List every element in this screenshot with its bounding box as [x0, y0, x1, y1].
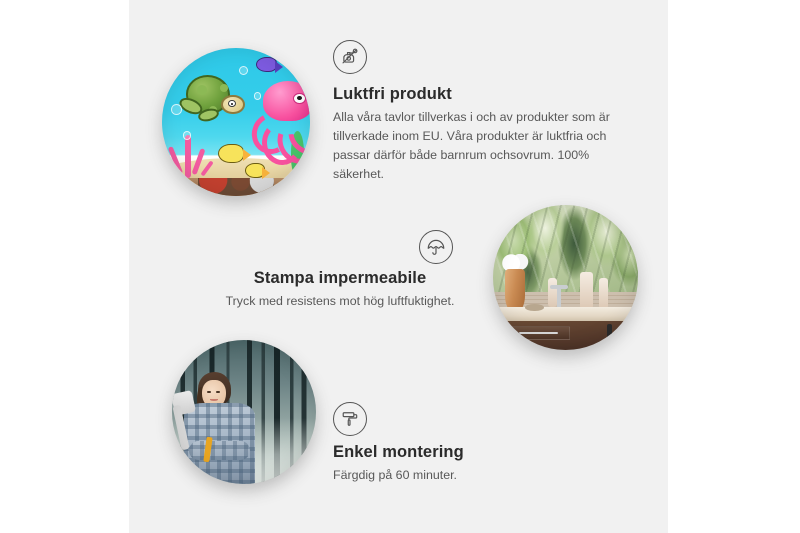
- feature-description: Alla våra tavlor tillverkas i och av pro…: [333, 108, 633, 185]
- feature-text-waterproof-print: Stampa impermeabile Tryck med resistens …: [206, 268, 474, 311]
- no-fragrance-icon: [333, 40, 367, 74]
- feature-title: Enkel montering: [333, 442, 623, 463]
- feature-title: Luktfri produkt: [333, 84, 633, 105]
- product-feature-infographic: Luktfri produkt Alla våra tavlor tillver…: [0, 0, 800, 533]
- feature-text-easy-installation: Enkel montering Färgdig på 60 minuter.: [333, 442, 623, 485]
- photo-woman-paint-roller-forest: [172, 340, 316, 484]
- feature-title: Stampa impermeabile: [206, 268, 474, 289]
- photo-vignette: [172, 340, 316, 484]
- umbrella-icon: [419, 230, 453, 264]
- feature-text-odour-free: Luktfri produkt Alla våra tavlor tillver…: [333, 84, 633, 185]
- feature-description: Tryck med resistens mot hög luftfuktighe…: [206, 292, 474, 311]
- paint-roller-icon: [333, 402, 367, 436]
- photo-vignette: [493, 205, 638, 350]
- feature-description: Färgdig på 60 minuter.: [333, 466, 623, 485]
- photo-bathroom-tropical-wallpaper: [493, 205, 638, 350]
- photo-vignette: [162, 48, 310, 196]
- photo-underwater-cartoon: [162, 48, 310, 196]
